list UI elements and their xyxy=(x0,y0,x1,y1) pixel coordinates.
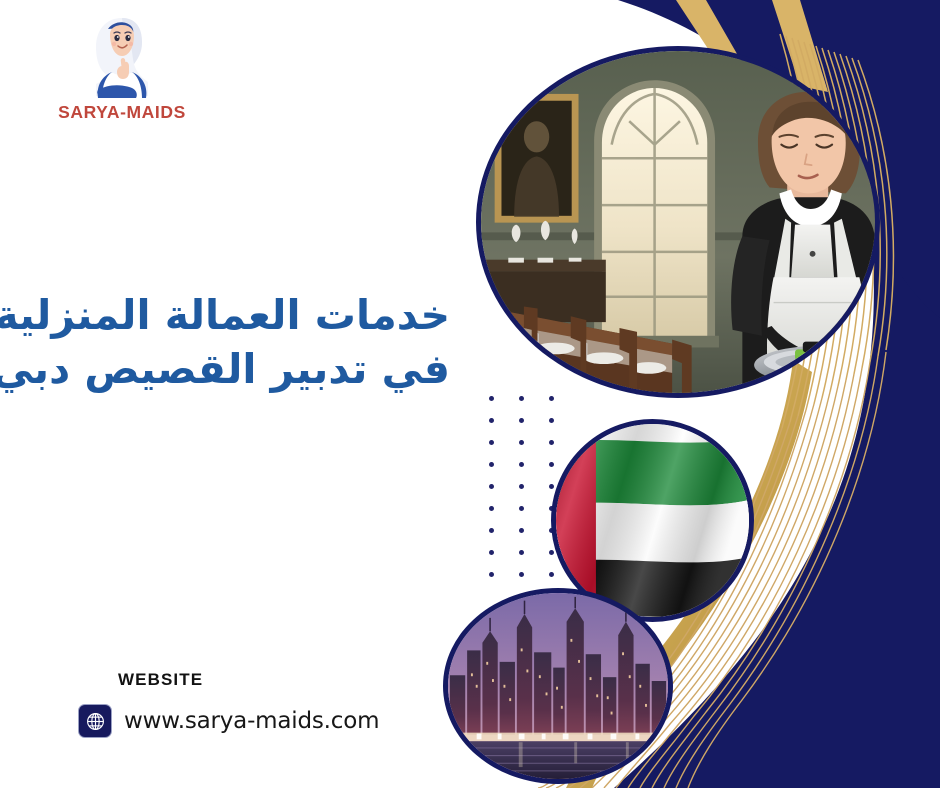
dot xyxy=(489,418,494,423)
dot xyxy=(549,396,554,401)
website-block: WEBSITE www.sarya-maids.com xyxy=(118,670,379,738)
arched-window xyxy=(590,80,719,347)
dot xyxy=(489,550,494,555)
dot xyxy=(519,550,524,555)
dot xyxy=(519,506,524,511)
dot xyxy=(519,484,524,489)
dot xyxy=(489,528,494,533)
dot xyxy=(489,506,494,511)
dot xyxy=(519,396,524,401)
dubai-skyline-photo xyxy=(443,588,673,784)
brand-name: SARYA-MAIDS xyxy=(32,102,212,123)
dot xyxy=(519,440,524,445)
website-url[interactable]: www.sarya-maids.com xyxy=(124,708,379,734)
website-link-row[interactable]: www.sarya-maids.com xyxy=(78,704,379,738)
globe-icon xyxy=(78,704,112,738)
maid-thumbs-up-icon xyxy=(74,14,170,100)
dot xyxy=(489,396,494,401)
dot xyxy=(549,418,554,423)
dot xyxy=(519,528,524,533)
dot xyxy=(549,572,554,577)
maid-serving-tray-photo xyxy=(476,46,880,398)
dot xyxy=(519,462,524,467)
dot xyxy=(549,550,554,555)
maid-photo-illustration xyxy=(481,51,875,394)
page-title: خدمات العمالة المنزلية في تدبير القصيص د… xyxy=(0,288,466,396)
dot xyxy=(489,484,494,489)
dot xyxy=(489,440,494,445)
dot xyxy=(519,572,524,577)
dubai-skyline-illustration xyxy=(448,593,668,780)
dot xyxy=(549,440,554,445)
poster-canvas: SARYA-MAIDS خدمات العمالة المنزلية في تد… xyxy=(0,0,940,788)
dot xyxy=(549,462,554,467)
dot xyxy=(489,572,494,577)
headline-line-2: في تدبير القصيص دبي xyxy=(0,342,450,396)
dot xyxy=(489,462,494,467)
framed-portrait xyxy=(495,94,579,223)
dot xyxy=(549,484,554,489)
dot xyxy=(519,418,524,423)
brand-logo: SARYA-MAIDS xyxy=(32,14,212,123)
uae-flag-illustration xyxy=(556,424,749,617)
headline-line-1: خدمات العمالة المنزلية xyxy=(0,288,450,342)
website-label: WEBSITE xyxy=(118,670,379,690)
